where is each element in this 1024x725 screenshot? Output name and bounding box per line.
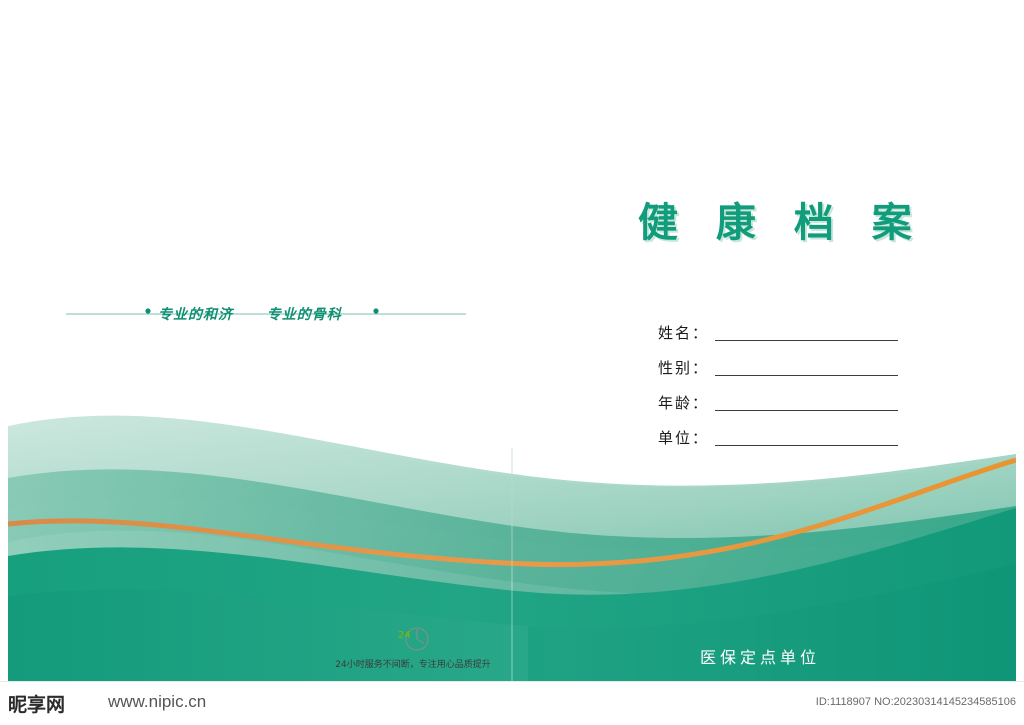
patient-info-form: 姓名： 性别： 年龄： 单位： [658, 313, 898, 453]
service-block: 24 24小时服务不间断，专注用心品质提升 [313, 625, 513, 670]
gender-label: 性别： [658, 357, 709, 380]
name-write-line[interactable] [715, 339, 898, 341]
clock-24h-icon: 24 [396, 625, 430, 655]
slogan-part-1: 专业的和济 [158, 307, 233, 323]
age-label: 年龄： [658, 392, 709, 415]
service-text: 24小时服务不间断，专注用心品质提升 [313, 657, 513, 670]
artwork-canvas: 健 康 档 案 专业的和济 专业的骨科 姓名： 性别： 年龄： [8, 8, 1016, 681]
svg-text:24: 24 [398, 630, 411, 641]
slogan-part-2: 专业的骨科 [267, 307, 342, 323]
form-row-unit: 单位： [658, 418, 898, 450]
unit-write-line[interactable] [715, 444, 898, 446]
poster-page: 健 康 档 案 专业的和济 专业的骨科 姓名： 性别： 年龄： [0, 0, 1024, 724]
site-url[interactable]: www.nipic.cn [108, 692, 206, 712]
slogan-text: 专业的和济 专业的骨科 [158, 304, 342, 324]
medical-insurance-label: 医保定点单位 [700, 644, 820, 668]
site-logo[interactable]: 昵享网 [8, 690, 65, 717]
gender-write-line[interactable] [715, 374, 898, 376]
slogan-banner: 专业的和济 专业的骨科 [70, 304, 480, 330]
form-row-name: 姓名： [658, 313, 898, 345]
image-id-text: ID:1118907 NO:20230314145234585106 [816, 696, 1016, 708]
name-label: 姓名： [658, 322, 709, 345]
page-title: 健 康 档 案 [638, 190, 924, 248]
form-row-age: 年龄： [658, 383, 898, 415]
form-row-gender: 性别： [658, 348, 898, 380]
unit-label: 单位： [658, 427, 709, 450]
watermark-bar: 昵享网 www.nipic.cn ID:1118907 NO:202303141… [0, 681, 1024, 725]
age-write-line[interactable] [715, 409, 898, 411]
